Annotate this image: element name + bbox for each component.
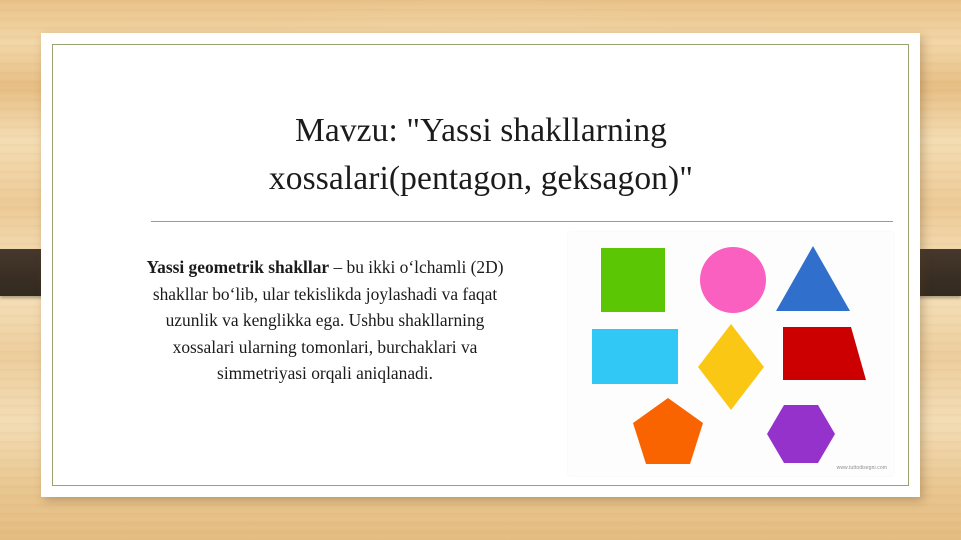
shape-green-square <box>601 248 665 312</box>
body-lead-term: Yassi geometrik shakllar <box>147 257 330 277</box>
shape-cyan-rectangle <box>592 329 678 384</box>
body-paragraph: Yassi geometrik shakllar – bu ikki o‘lch… <box>144 254 506 387</box>
slide-title-line-2: xossalari(pentagon, geksagon)" <box>121 155 841 203</box>
shape-pink-circle <box>700 247 766 313</box>
flat-shapes-figure: www.tuttodisegni.com <box>568 232 894 476</box>
title-divider <box>151 221 893 222</box>
slide: Mavzu: "Yassi shakllarning xossalari(pen… <box>0 0 961 540</box>
figure-watermark: www.tuttodisegni.com <box>837 465 887 471</box>
content-card: Mavzu: "Yassi shakllarning xossalari(pen… <box>41 33 920 497</box>
slide-title-line-1: Mavzu: "Yassi shakllarning <box>121 107 841 155</box>
slide-title: Mavzu: "Yassi shakllarning xossalari(pen… <box>121 107 841 203</box>
